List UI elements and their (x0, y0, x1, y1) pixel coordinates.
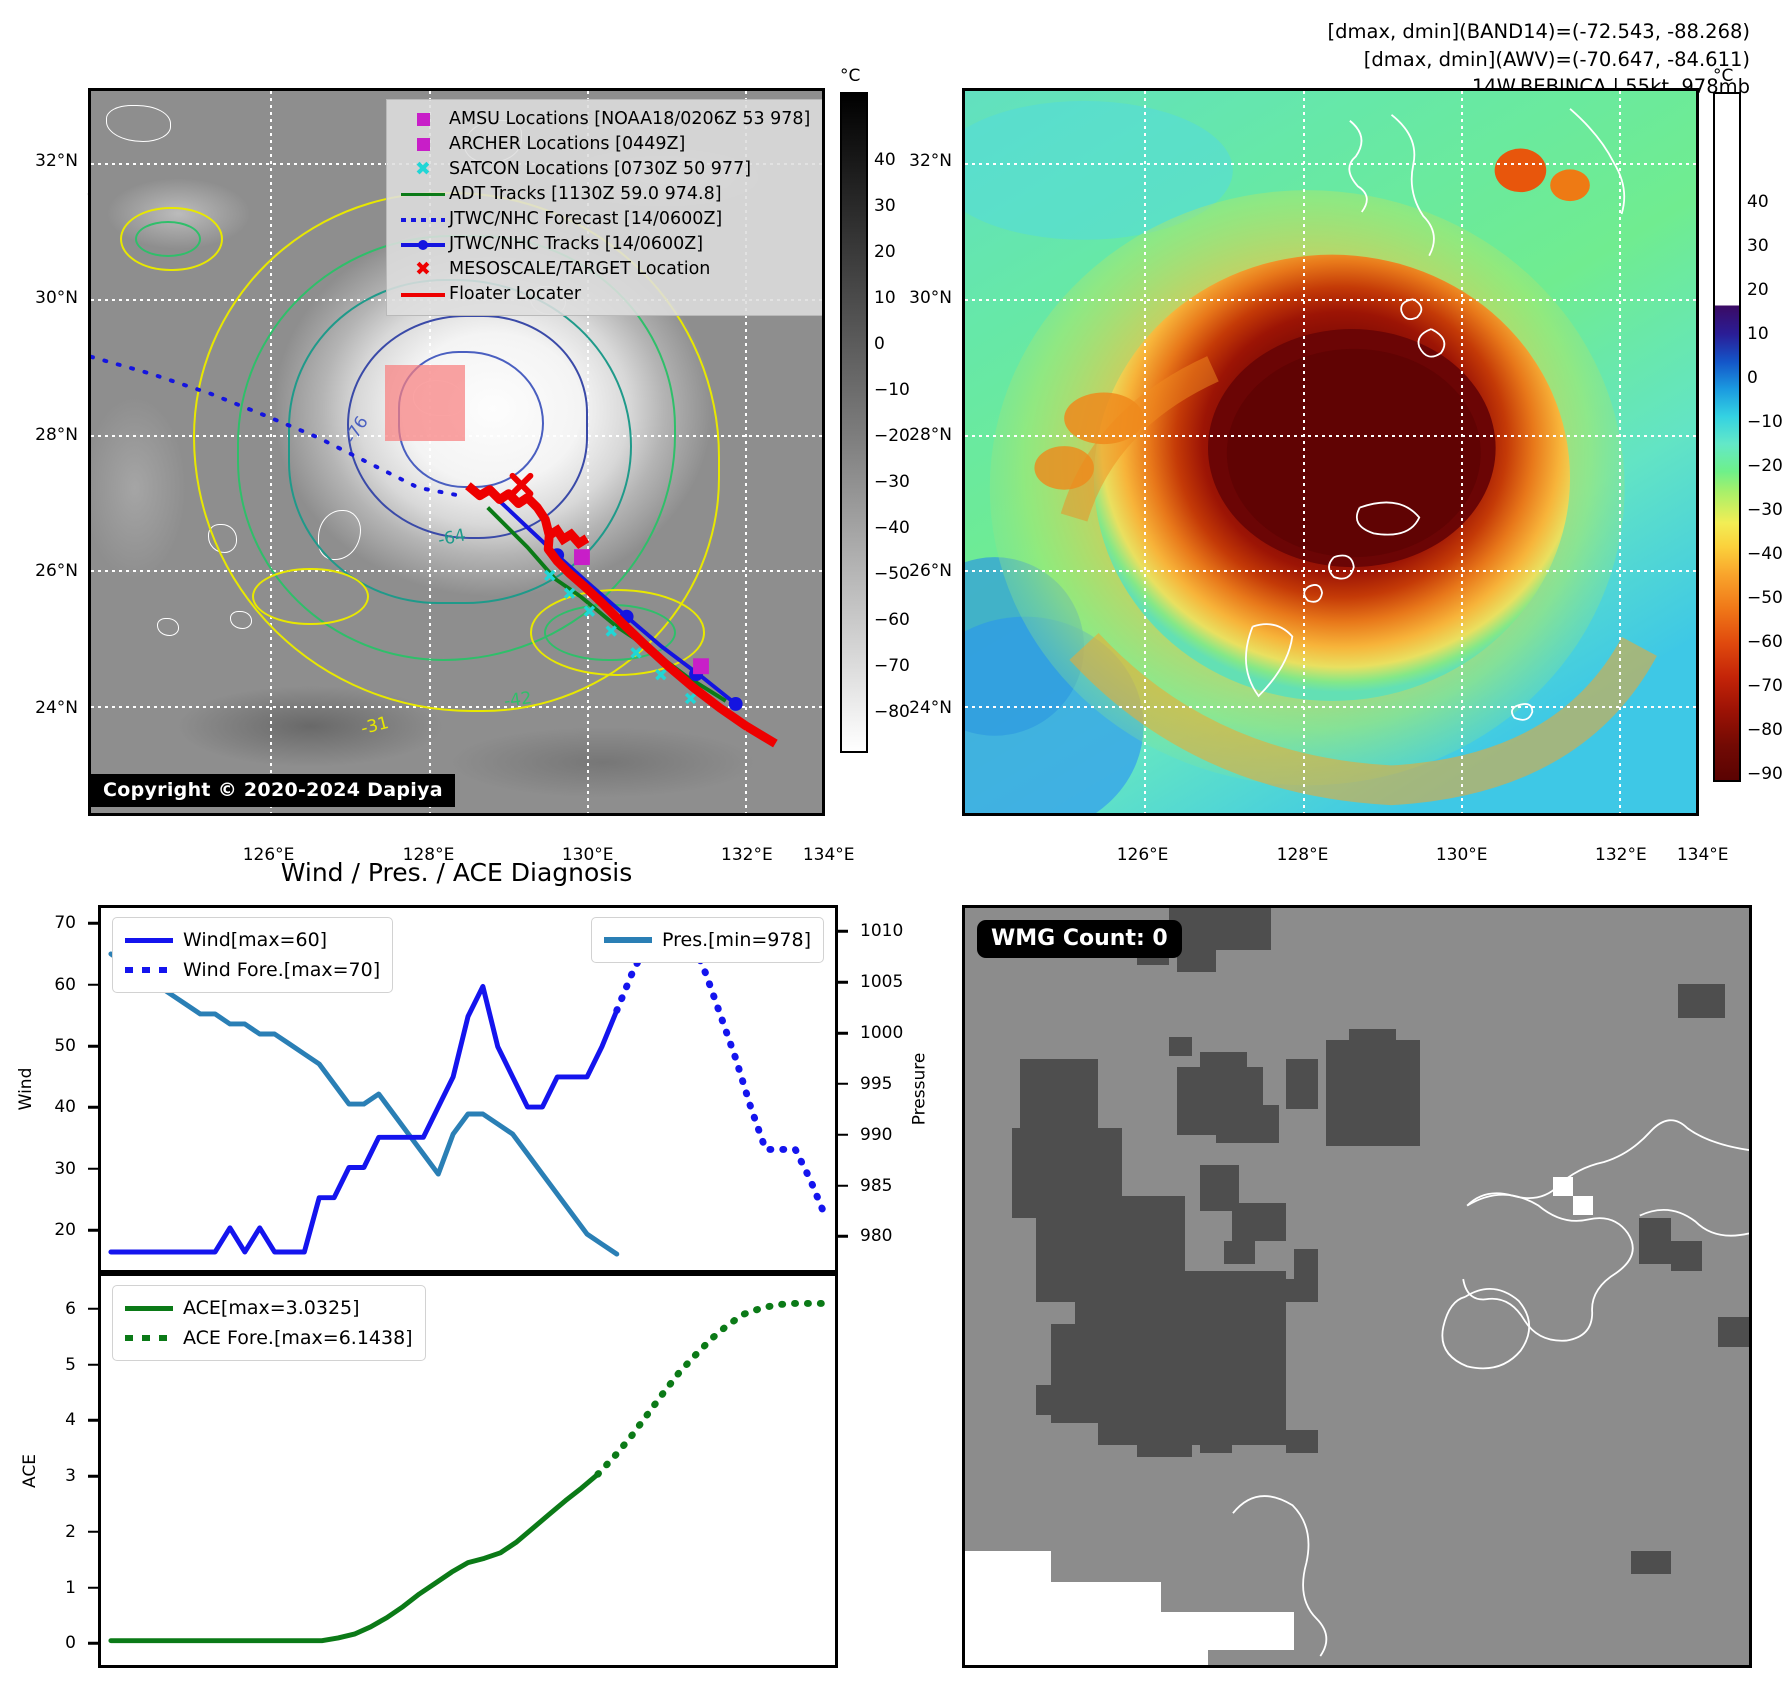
colorbar-tick: −40 (1747, 544, 1783, 564)
gridline-lat-32 (965, 163, 1696, 166)
legend-item-jtwc-forecast: JTWC/NHC Forecast [14/0600Z] (397, 207, 810, 232)
ir-grayscale-axes: -76 -64 -42 -31 (88, 88, 825, 816)
wmg-panel: WMG Count: 0 (962, 905, 1752, 1668)
lon-tick-130e: 130°E (1436, 845, 1488, 865)
colorbar-tick: −20 (874, 426, 910, 446)
gridline-lat-28 (965, 435, 1696, 438)
wind-tick-label: 60 (54, 975, 76, 995)
ir-grayscale-legend: AMSU Locations [NOAA18/0206Z 53 978] ARC… (386, 99, 823, 316)
legend-item-satcon: ✖ SATCON Locations [0730Z 50 977] (397, 157, 810, 182)
pressure-tick-mark (838, 1083, 848, 1086)
wind-tick-label: 40 (54, 1097, 76, 1117)
wind-tick-label: 30 (54, 1159, 76, 1179)
legend-label: ARCHER Locations [0449Z] (449, 136, 685, 154)
legend-item-adt: ADT Tracks [1130Z 59.0 974.8] (397, 182, 810, 207)
pressure-tick-mark (838, 1134, 848, 1137)
lat-tick-28n: 28°N (909, 425, 952, 445)
dotted-blue-icon (397, 218, 449, 222)
ace-axis-label: ACE (20, 1454, 40, 1488)
ir-color-panel: 32°N 30°N 28°N 26°N 24°N 126°E 128°E 130… (962, 88, 1699, 816)
lat-tick-28n: 28°N (35, 425, 78, 445)
colorbar-tick: −30 (1747, 500, 1783, 520)
gridline-lon-126 (1144, 91, 1147, 813)
line-red-icon (397, 293, 449, 297)
x-red-icon: ✖ (397, 260, 449, 279)
colorbar-tick: 0 (1747, 368, 1758, 388)
dmax-dmin-band14: [dmax, dmin](BAND14)=(-72.543, -88.268) (1328, 18, 1750, 46)
legend-label: ACE Fore.[max=6.1438] (183, 1329, 413, 1348)
screenshot-root: HIMAWARI-9 BAND14-DIAS TARGET AREA Time:… (0, 0, 1788, 1690)
ace-tick-label: 6 (65, 1299, 76, 1319)
lat-tick-30n: 30°N (909, 288, 952, 308)
legend-label: MESOSCALE/TARGET Location (449, 261, 710, 279)
colorbar-tick: −70 (1747, 676, 1783, 696)
x-cyan-icon: ✖ (397, 160, 449, 179)
wind-tick-mark (88, 1229, 98, 1232)
wmg-coastline-overlay (965, 908, 1749, 1665)
satcon-markers (545, 571, 695, 703)
gridline-lat-24 (965, 706, 1696, 709)
mesoscale-target-marker (513, 476, 531, 494)
pressure-line-icon (604, 937, 662, 943)
pressure-tick-label: 985 (860, 1176, 892, 1196)
colorbar-gradient (1713, 92, 1741, 782)
ace-chart: ACE 0123456 ACE[max=3.0325] ACE Fore.[ma… (98, 1273, 838, 1668)
gridline-lon-132 (1619, 91, 1622, 813)
legend-item-ace-forecast: ACE Fore.[max=6.1438] (125, 1323, 413, 1353)
colorbar-tick: 10 (874, 288, 896, 308)
colorbar-tick: 0 (874, 334, 885, 354)
colorbar-tick: −10 (1747, 412, 1783, 432)
pressure-tick-label: 1005 (860, 972, 903, 992)
legend-label: JTWC/NHC Forecast [14/0600Z] (449, 211, 722, 229)
ir-color-image (965, 91, 1696, 813)
colorbar-tick: 30 (874, 196, 896, 216)
pressure-tick-mark (838, 1235, 848, 1238)
colorbar-tick: −60 (1747, 632, 1783, 652)
legend-item-jtwc-tracks: JTWC/NHC Tracks [14/0600Z] (397, 232, 810, 257)
wmg-count-badge: WMG Count: 0 (977, 920, 1182, 958)
wind-tick-label: 20 (54, 1220, 76, 1240)
pressure-tick-label: 995 (860, 1074, 892, 1094)
ir-grayscale-colorbar: °C 40 30 20 10 0 −10 −20 −30 −40 −50 −60… (840, 66, 950, 766)
colorbar-tick: −30 (874, 472, 910, 492)
lon-tick-128e: 128°E (1277, 845, 1329, 865)
colorbar-gradient (840, 92, 868, 753)
legend-item-wind: Wind[max=60] (125, 925, 380, 955)
wind-forecast-dotted-icon (125, 967, 183, 973)
legend-label: Floater Locater (449, 286, 581, 304)
pressure-tick-mark (838, 1184, 848, 1187)
ir-color-colorbar: °C 40 30 20 10 0 −10 −20 −30 −40 −50 −60… (1713, 66, 1788, 766)
lat-tick-32n: 32°N (35, 151, 78, 171)
wind-axis-label: Wind (16, 1068, 36, 1111)
wind-tick-mark (88, 1168, 98, 1171)
pressure-tick-label: 1010 (860, 921, 903, 941)
colorbar-tick: 20 (1747, 280, 1769, 300)
legend-item-floater: Floater Locater (397, 282, 810, 307)
square-magenta-icon (397, 113, 449, 126)
lon-tick-126e: 126°E (1117, 845, 1169, 865)
legend-item-pressure: Pres.[min=978] (604, 925, 811, 955)
lat-tick-26n: 26°N (909, 561, 952, 581)
floater-locater-segment (549, 530, 587, 543)
legend-item-ace: ACE[max=3.0325] (125, 1293, 413, 1323)
pressure-tick-mark (838, 981, 848, 984)
legend-label: Pres.[min=978] (662, 931, 811, 950)
wind-tick-mark (88, 922, 98, 925)
jtwc-forecast-track (91, 357, 460, 496)
ace-tick-mark (88, 1586, 98, 1589)
legend-item-archer: ARCHER Locations [0449Z] (397, 132, 810, 157)
lon-tick-134e: 134°E (1677, 845, 1729, 865)
wind-pressure-chart: Wind 203040506070 Pressure 9809859909951… (98, 905, 838, 1273)
wind-tick-label: 70 (54, 913, 76, 933)
track-marker (729, 697, 743, 711)
colorbar-tick: 20 (874, 242, 896, 262)
legend-label: AMSU Locations [NOAA18/0206Z 53 978] (449, 111, 810, 129)
ace-tick-label: 0 (65, 1633, 76, 1653)
legend-label: ACE[max=3.0325] (183, 1299, 360, 1318)
wind-tick-mark (88, 1045, 98, 1048)
ace-legend: ACE[max=3.0325] ACE Fore.[max=6.1438] (112, 1285, 426, 1361)
ir-grayscale-panel: -76 -64 -42 -31 (88, 88, 825, 816)
line-marker-blue-icon (397, 243, 449, 247)
ace-tick-mark (88, 1475, 98, 1478)
amsu-location-marker (574, 549, 590, 565)
ir-color-axes (962, 88, 1699, 816)
legend-label: SATCON Locations [0730Z 50 977] (449, 161, 751, 179)
colorbar-tick: −10 (874, 380, 910, 400)
legend-item-mesoscale: ✖ MESOSCALE/TARGET Location (397, 257, 810, 282)
ace-tick-label: 3 (65, 1466, 76, 1486)
colorbar-unit-label: °C (840, 66, 860, 86)
ace-line-icon (125, 1306, 183, 1311)
dmax-dmin-awv: [dmax, dmin](AWV)=(-70.647, -84.611) (1328, 46, 1750, 74)
pressure-tick-mark (838, 930, 848, 933)
colorbar-tick: −70 (874, 656, 910, 676)
colorbar-tick: 30 (1747, 236, 1769, 256)
wind-line-icon (125, 938, 183, 943)
lat-tick-32n: 32°N (909, 151, 952, 171)
colorbar-tick: 10 (1747, 324, 1769, 344)
square-magenta-icon (397, 138, 449, 151)
colorbar-tick: −50 (874, 564, 910, 584)
copyright-badge: Copyright © 2020-2024 Dapiya (91, 774, 455, 807)
lon-tick-132e: 132°E (1595, 845, 1647, 865)
wind-tick-label: 50 (54, 1036, 76, 1056)
pressure-tick-label: 990 (860, 1125, 892, 1145)
wind-tick-mark (88, 1106, 98, 1109)
gridline-lon-128 (1303, 91, 1306, 813)
pressure-tick-label: 1000 (860, 1023, 903, 1043)
colorbar-tick: −50 (1747, 588, 1783, 608)
legend-label: ADT Tracks [1130Z 59.0 974.8] (449, 186, 722, 204)
ace-tick-mark (88, 1531, 98, 1534)
gridline-lat-26 (965, 570, 1696, 573)
gridline-lon-130 (1461, 91, 1464, 813)
colorbar-tick: 40 (1747, 192, 1769, 212)
colorbar-tick: −60 (874, 610, 910, 630)
pressure-legend: Pres.[min=978] (591, 917, 824, 963)
legend-item-wind-forecast: Wind Fore.[max=70] (125, 955, 380, 985)
wind-legend: Wind[max=60] Wind Fore.[max=70] (112, 917, 393, 993)
wind-tick-mark (88, 983, 98, 986)
ace-tick-mark (88, 1642, 98, 1645)
ace-tick-mark (88, 1363, 98, 1366)
legend-item-amsu: AMSU Locations [NOAA18/0206Z 53 978] (397, 107, 810, 132)
colorbar-tick: −80 (874, 702, 910, 722)
wmg-axes: WMG Count: 0 (962, 905, 1752, 1668)
legend-label: JTWC/NHC Tracks [14/0600Z] (449, 236, 703, 254)
ace-forecast-dotted-icon (125, 1335, 183, 1341)
lat-tick-30n: 30°N (35, 288, 78, 308)
ace-tick-label: 1 (65, 1578, 76, 1598)
ace-tick-label: 5 (65, 1355, 76, 1375)
pressure-tick-mark (838, 1032, 848, 1035)
gridline-lat-30 (965, 299, 1696, 302)
archer-location-marker (693, 658, 709, 674)
colorbar-unit-label: °C (1713, 66, 1733, 86)
lat-tick-26n: 26°N (35, 561, 78, 581)
ace-tick-label: 2 (65, 1522, 76, 1542)
lat-tick-24n: 24°N (35, 698, 78, 718)
pressure-tick-label: 980 (860, 1226, 892, 1246)
ace-tick-label: 4 (65, 1410, 76, 1430)
pressure-axis-label: Pressure (910, 1053, 930, 1126)
wind-pres-ace-title: Wind / Pres. / ACE Diagnosis (88, 858, 825, 887)
ace-tick-mark (88, 1419, 98, 1422)
colorbar-tick: −90 (1747, 764, 1783, 784)
colorbar-tick: −80 (1747, 720, 1783, 740)
colorbar-tick: 40 (874, 150, 896, 170)
legend-label: Wind[max=60] (183, 931, 327, 950)
colorbar-tick: −40 (874, 518, 910, 538)
legend-label: Wind Fore.[max=70] (183, 961, 380, 980)
ace-tick-mark (88, 1308, 98, 1311)
line-green-icon (397, 193, 449, 196)
colorbar-tick: −20 (1747, 456, 1783, 476)
lat-tick-24n: 24°N (909, 698, 952, 718)
